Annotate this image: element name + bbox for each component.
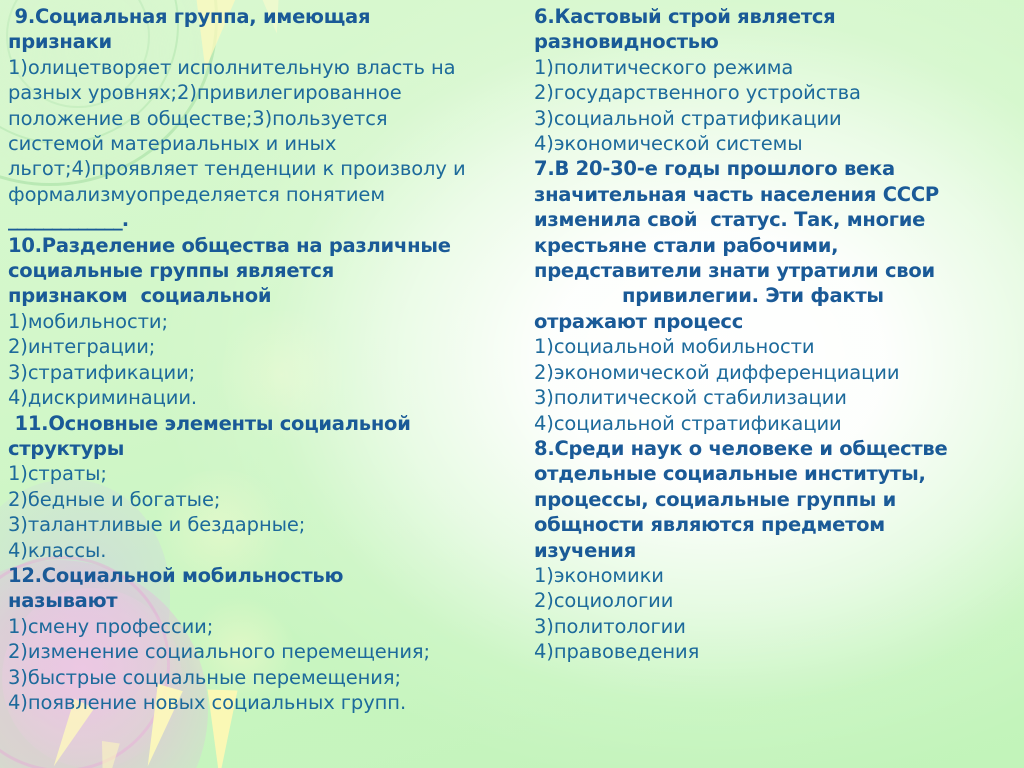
question-heading-line: значительная часть населения СССР: [534, 182, 1016, 207]
answer-blank-line: _____________.: [8, 207, 514, 232]
question-heading-line: привилегии. Эти факты: [534, 283, 1016, 308]
question-heading-line: структуры: [8, 436, 514, 461]
question-heading-line: 8.Среди наук о человеке и обществе: [534, 436, 1016, 461]
answer-option-line: 3)талантливые и бездарные;: [8, 512, 514, 537]
answer-option-line: 3)стратификации;: [8, 360, 514, 385]
answer-option-line: 2)бедные и богатые;: [8, 487, 514, 512]
answer-option-line: положение в обществе;3)пользуется: [8, 106, 514, 131]
answer-option-line: 3)политической стабилизации: [534, 385, 1016, 410]
answer-option-line: 1)смену профессии;: [8, 614, 514, 639]
answer-option-line: 2)интеграции;: [8, 334, 514, 359]
answer-option-line: 4)социальной стратификации: [534, 411, 1016, 436]
right-text-column: 6.Кастовый строй являетсяразновидностью1…: [524, 4, 1024, 768]
question-heading-line: изменила свой статус. Так, многие: [534, 207, 1016, 232]
answer-option-line: 4)появление новых социальных групп.: [8, 690, 514, 715]
question-heading-line: отдельные социальные институты,: [534, 461, 1016, 486]
answer-option-line: 1)олицетворяет исполнительную власть на: [8, 55, 514, 80]
answer-option-line: разных уровнях;2)привилегированное: [8, 80, 514, 105]
answer-option-line: 2)изменение социального перемещения;: [8, 639, 514, 664]
question-heading-line: 11.Основные элементы социальной: [8, 411, 514, 436]
question-heading-line: признаки: [8, 29, 514, 54]
question-heading-line: 6.Кастовый строй является: [534, 4, 1016, 29]
question-heading-line: общности являются предметом: [534, 512, 1016, 537]
question-heading-line: социальные группы является: [8, 258, 514, 283]
question-heading-line: представители знати утратили свои: [534, 258, 1016, 283]
question-heading-line: отражают процесс: [534, 309, 1016, 334]
answer-option-line: 2)социологии: [534, 588, 1016, 613]
question-heading-line: называют: [8, 588, 514, 613]
slide-canvas: 9.Социальная группа, имеющаяпризнаки1)ол…: [0, 0, 1024, 768]
answer-option-line: 1)социальной мобильности: [534, 334, 1016, 359]
question-heading-line: 12.Социальной мобильностью: [8, 563, 514, 588]
answer-option-line: льгот;4)проявляет тенденции к произволу …: [8, 156, 514, 181]
answer-option-line: 3)социальной стратификации: [534, 106, 1016, 131]
question-heading-line: 9.Социальная группа, имеющая: [8, 4, 514, 29]
content-columns: 9.Социальная группа, имеющаяпризнаки1)ол…: [0, 0, 1024, 768]
question-heading-line: крестьяне стали рабочими,: [534, 233, 1016, 258]
answer-option-line: 1)страты;: [8, 461, 514, 486]
question-heading-line: признаком социальной: [8, 283, 514, 308]
question-heading-line: 10.Разделение общества на различные: [8, 233, 514, 258]
answer-option-line: формализмуопределяется понятием: [8, 182, 514, 207]
answer-option-line: 4)экономической системы: [534, 131, 1016, 156]
answer-option-line: 1)политического режима: [534, 55, 1016, 80]
question-heading-line: процессы, социальные группы и: [534, 487, 1016, 512]
question-heading-line: 7.В 20-30-е годы прошлого века: [534, 156, 1016, 181]
answer-option-line: 3)быстрые социальные перемещения;: [8, 665, 514, 690]
answer-option-line: 4)классы.: [8, 538, 514, 563]
answer-option-line: 1)экономики: [534, 563, 1016, 588]
answer-option-line: 4)правоведения: [534, 639, 1016, 664]
answer-option-line: 2)экономической дифференциации: [534, 360, 1016, 385]
question-heading-line: изучения: [534, 538, 1016, 563]
answer-option-line: 3)политологии: [534, 614, 1016, 639]
left-text-column: 9.Социальная группа, имеющаяпризнаки1)ол…: [0, 4, 524, 768]
answer-option-line: 1)мобильности;: [8, 309, 514, 334]
answer-option-line: 2)государственного устройства: [534, 80, 1016, 105]
question-heading-line: разновидностью: [534, 29, 1016, 54]
answer-option-line: системой материальных и иных: [8, 131, 514, 156]
answer-option-line: 4)дискриминации.: [8, 385, 514, 410]
